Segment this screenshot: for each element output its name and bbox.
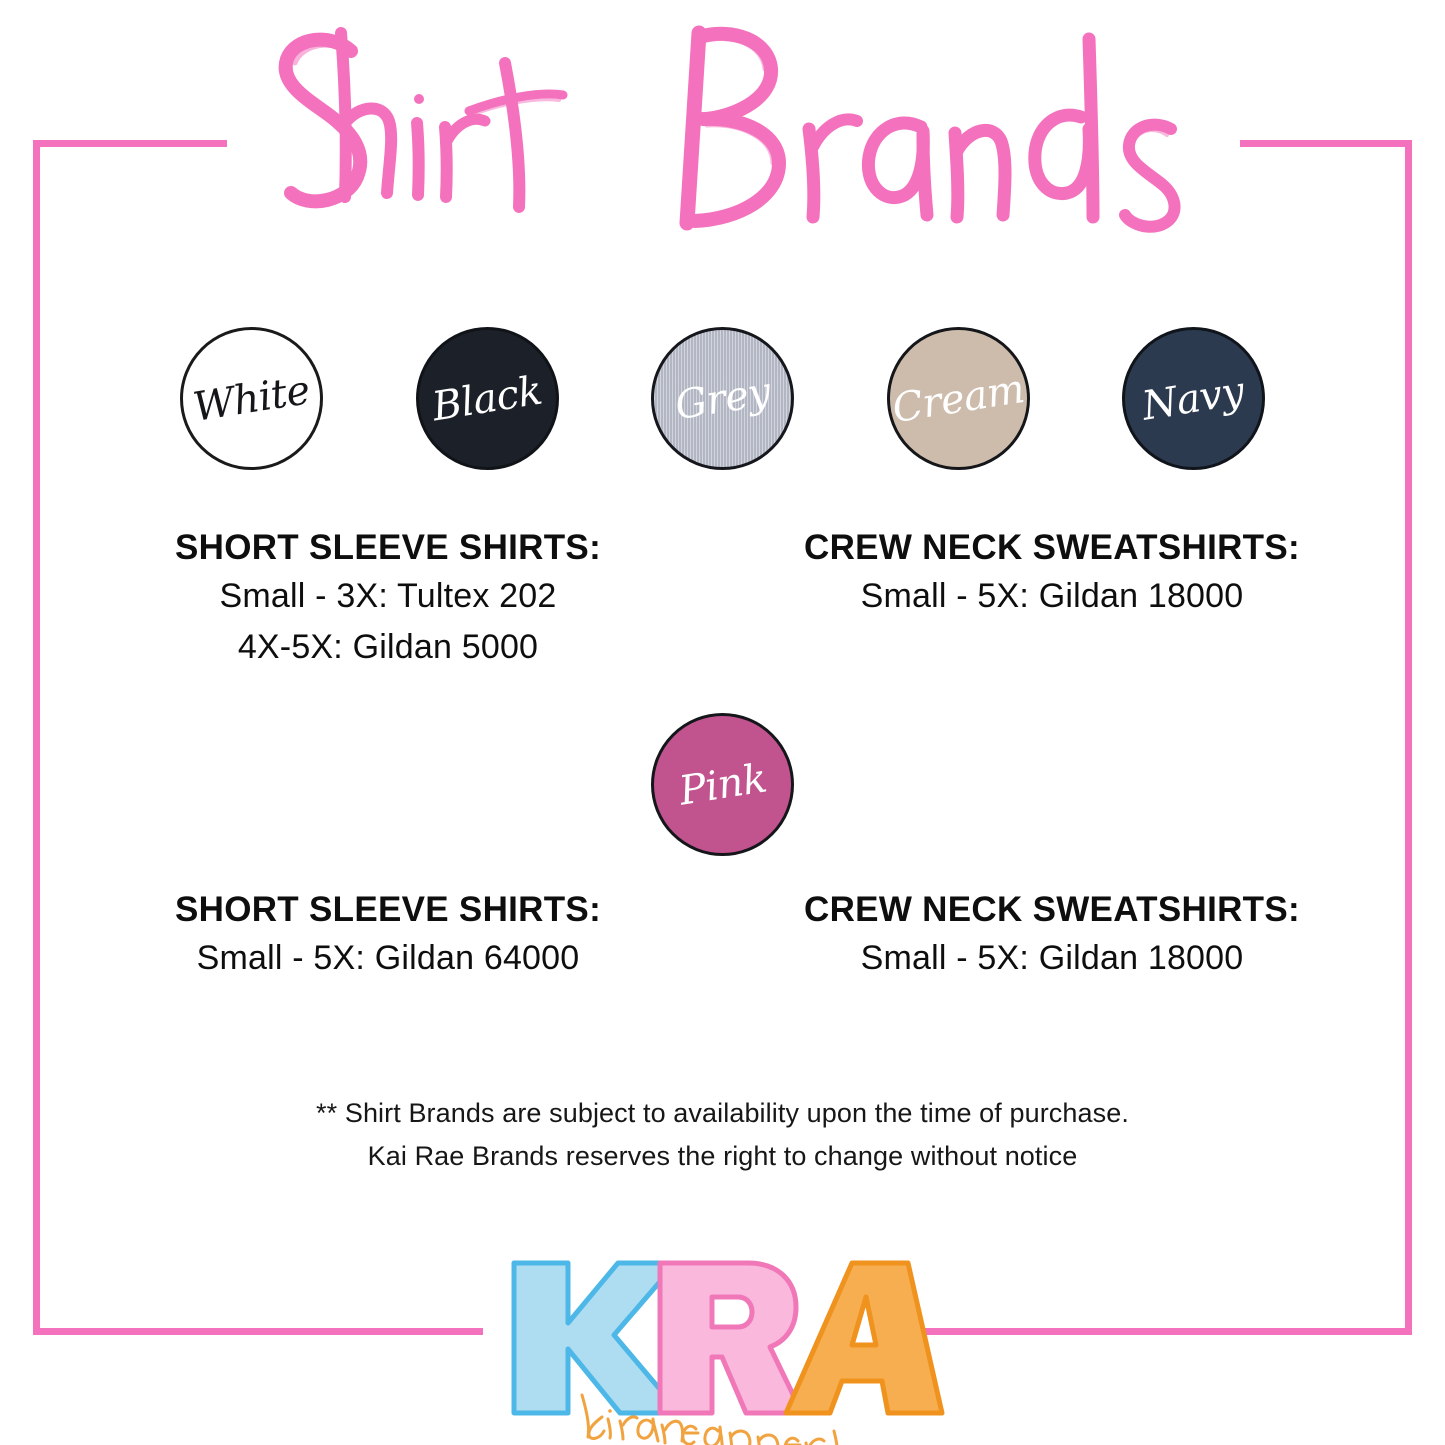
swatch-black-label: Black — [429, 370, 544, 427]
swatch-white: White — [180, 327, 323, 470]
page-title: Shirt Brands — [0, 8, 1445, 263]
info-heading-crew-neck-top: CREW NECK SWEATSHIRTS: — [772, 526, 1332, 571]
swatch-white-label: White — [191, 370, 313, 428]
info-line-short-sleeve-top-2: 4X-5X: Gildan 5000 — [108, 622, 668, 674]
swatch-row-top: White Black Grey Cream Navy — [180, 326, 1265, 471]
logo-letter-a — [786, 1263, 942, 1413]
swatch-grey: Grey — [651, 327, 794, 470]
swatch-navy: Navy — [1122, 327, 1265, 470]
info-block-short-sleeve-pink: SHORT SLEEVE SHIRTS: Small - 5X: Gildan … — [108, 888, 668, 984]
swatch-black: Black — [416, 327, 559, 470]
swatch-grey-label: Grey — [672, 371, 772, 425]
frame-line-bottom-right — [925, 1328, 1412, 1335]
disclaimer-line-1: ** Shirt Brands are subject to availabil… — [0, 1092, 1445, 1135]
info-line-short-sleeve-pink-1: Small - 5X: Gildan 64000 — [108, 933, 668, 985]
info-block-crew-neck-pink: CREW NECK SWEATSHIRTS: Small - 5X: Gilda… — [772, 888, 1332, 984]
swatch-row-pink: Pink — [0, 712, 1445, 857]
swatch-cream-label: Cream — [889, 368, 1026, 428]
shirt-brands-graphic: Shirt Brands — [0, 0, 1445, 1445]
info-heading-crew-neck-pink: CREW NECK SWEATSHIRTS: — [772, 888, 1332, 933]
brand-logo-art — [490, 1245, 960, 1445]
disclaimer: ** Shirt Brands are subject to availabil… — [0, 1092, 1445, 1178]
swatch-cream: Cream — [887, 327, 1030, 470]
info-heading-short-sleeve-pink: SHORT SLEEVE SHIRTS: — [108, 888, 668, 933]
info-heading-short-sleeve-top: SHORT SLEEVE SHIRTS: — [108, 526, 668, 571]
title-script-art — [233, 11, 1213, 261]
info-line-crew-neck-top-1: Small - 5X: Gildan 18000 — [772, 571, 1332, 623]
info-line-short-sleeve-top-1: Small - 3X: Tultex 202 — [108, 571, 668, 623]
info-block-crew-neck-top: CREW NECK SWEATSHIRTS: Small - 5X: Gilda… — [772, 526, 1332, 622]
info-line-crew-neck-pink-1: Small - 5X: Gildan 18000 — [772, 933, 1332, 985]
logo-letter-r — [660, 1263, 802, 1413]
disclaimer-line-2: Kai Rae Brands reserves the right to cha… — [0, 1135, 1445, 1178]
frame-line-bottom-left — [33, 1328, 483, 1335]
swatch-pink-label: Pink — [676, 758, 769, 811]
brand-logo: kai rae apparel KRA — [490, 1245, 960, 1445]
swatch-navy-label: Navy — [1140, 371, 1247, 426]
swatch-pink: Pink — [651, 713, 794, 856]
info-block-short-sleeve-top: SHORT SLEEVE SHIRTS: Small - 3X: Tultex … — [108, 526, 668, 674]
logo-letter-k — [514, 1263, 680, 1413]
